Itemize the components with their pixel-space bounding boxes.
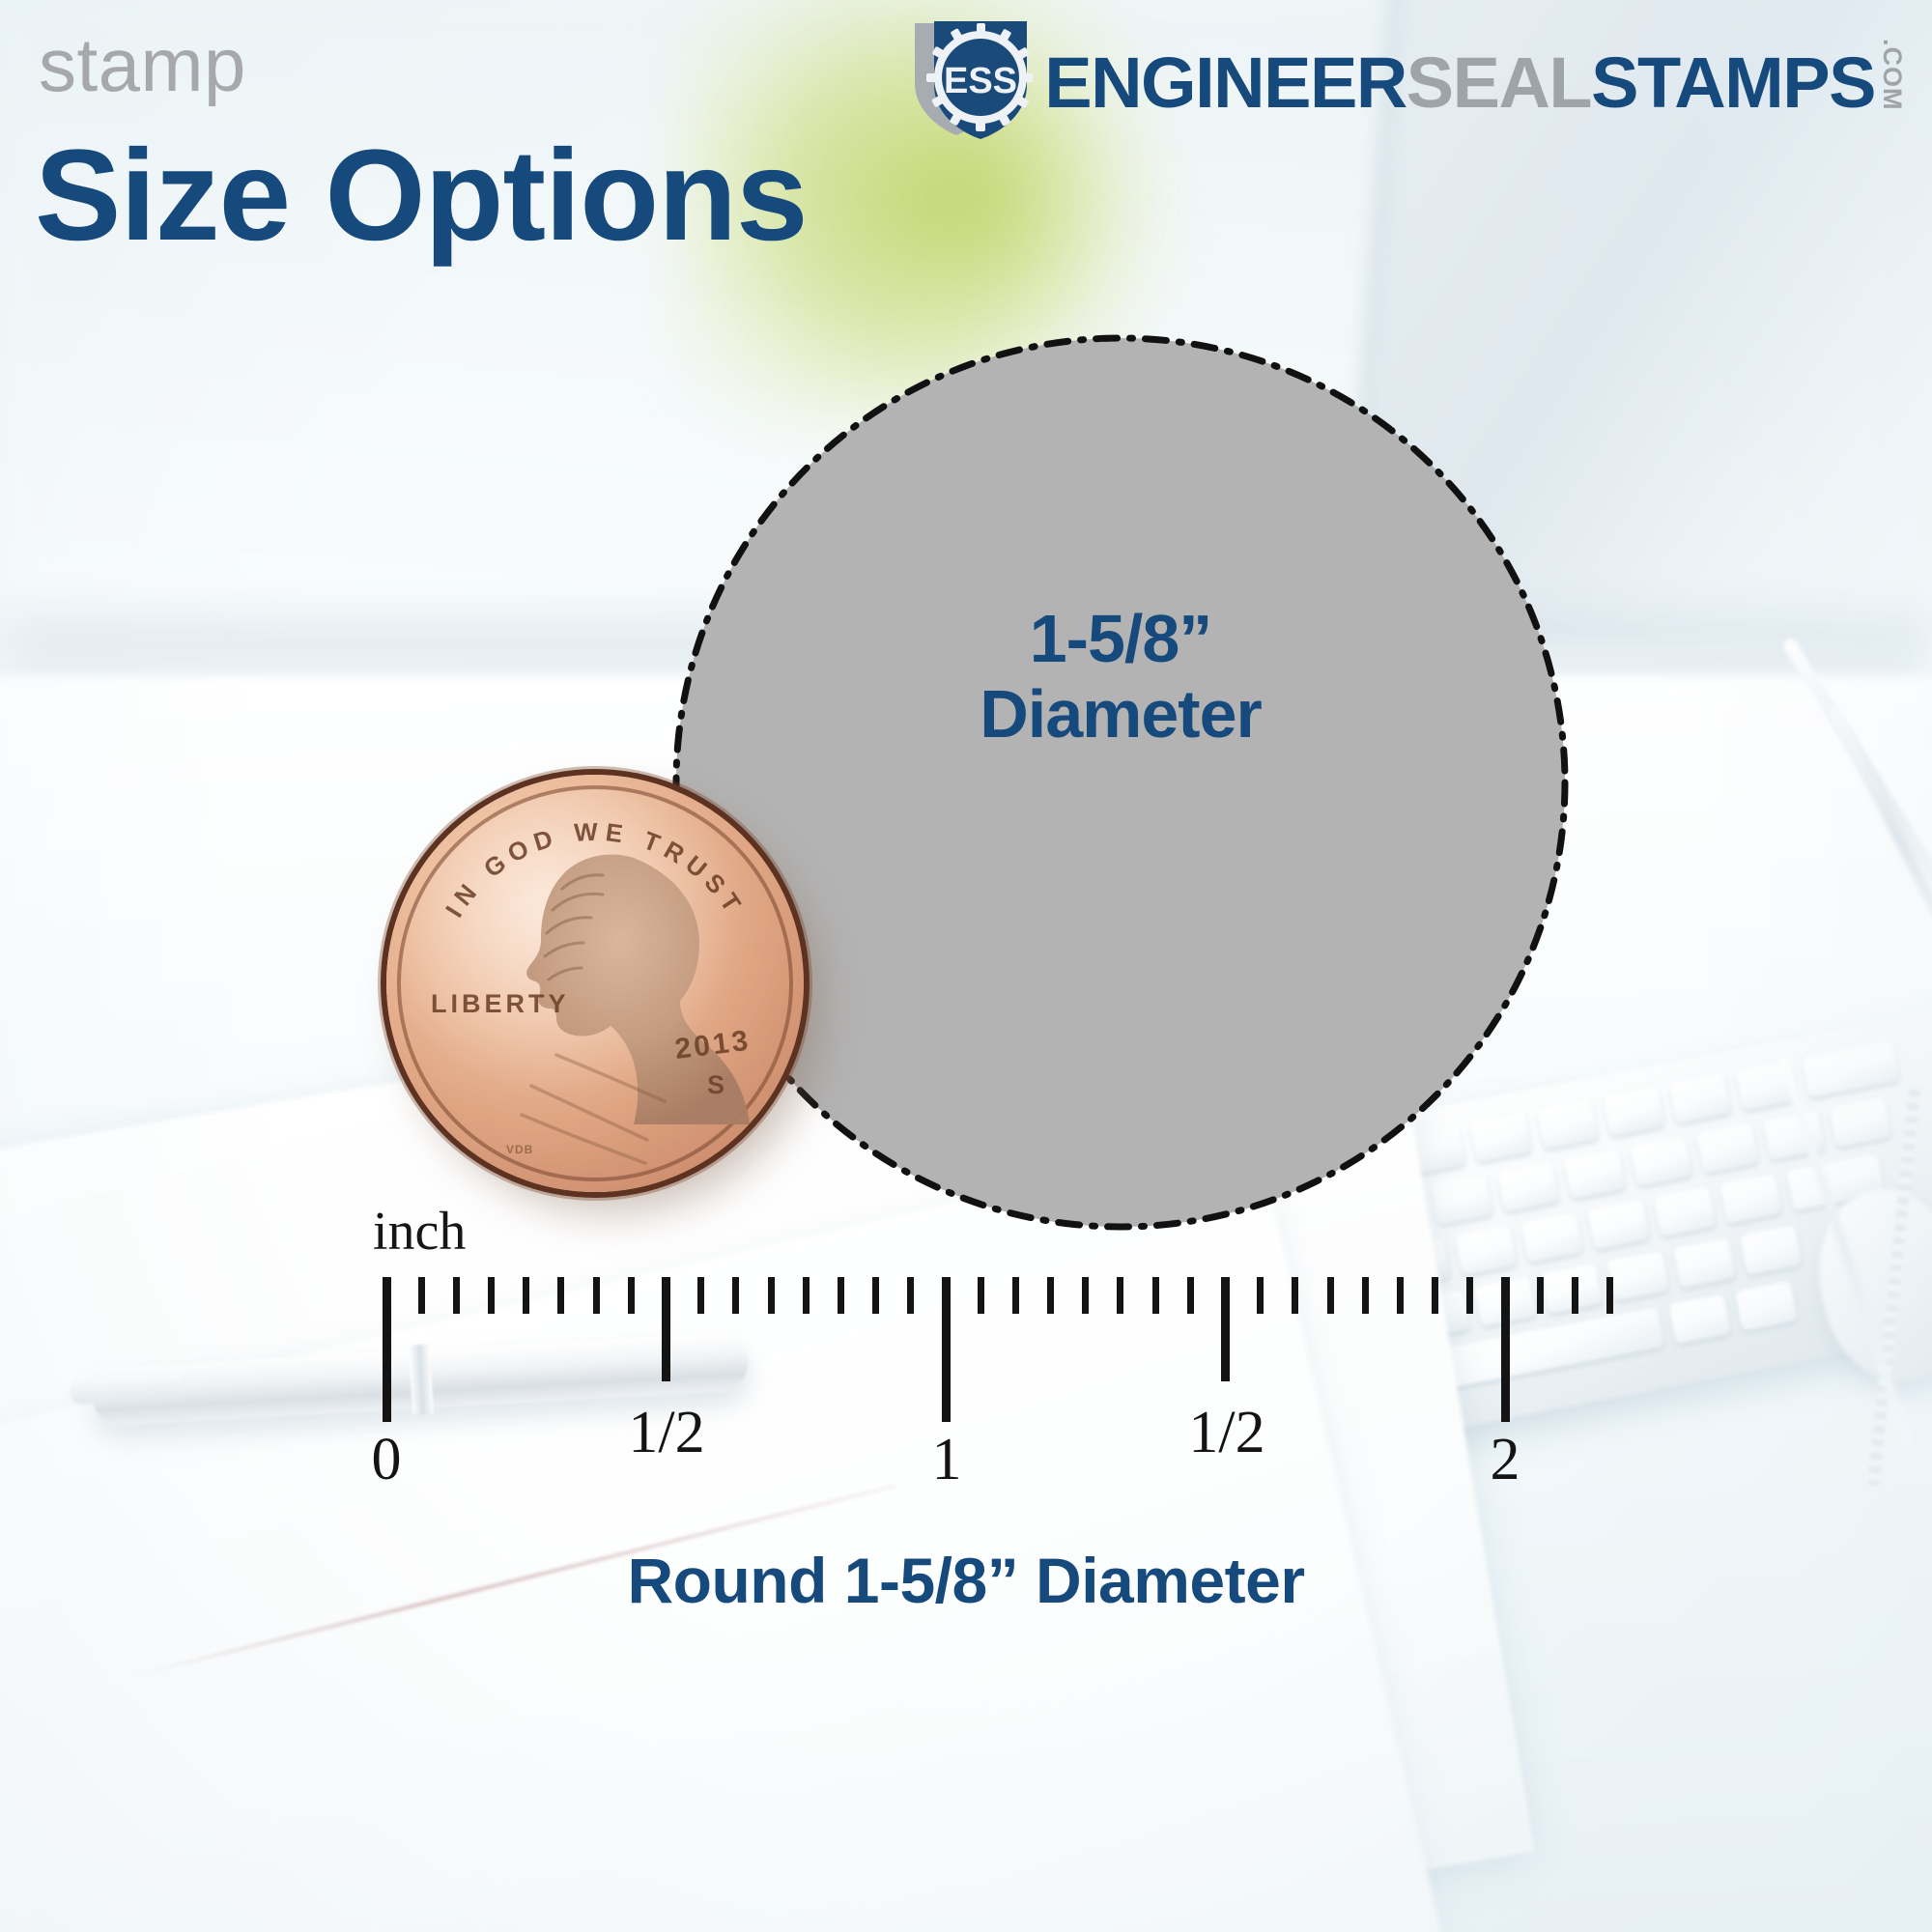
- coin-liberty-text: LIBERTY: [431, 989, 570, 1018]
- logo-wordmark: ENGINEERSEALSTAMPS.COM: [1044, 39, 1905, 117]
- shield-icon: ESS: [909, 15, 1033, 139]
- logo-badge: ESS: [909, 15, 1033, 139]
- size-dimension-label: 1-5/8” Diameter: [676, 601, 1565, 753]
- coin-mintmark-text: S: [707, 1070, 724, 1099]
- page-title: Size Options: [35, 131, 808, 261]
- size-preview-circle: 1-5/8” Diameter: [676, 338, 1565, 1227]
- logo-word-seal: SEAL: [1406, 50, 1591, 116]
- eyebrow-label: stamp: [39, 27, 246, 102]
- circle-dashed-border: [668, 330, 1573, 1235]
- logo-word-stamps: STAMPS: [1591, 50, 1875, 116]
- size-dimension-word: Diameter: [676, 676, 1565, 752]
- brand-logo[interactable]: ESS ENGINEERSEALSTAMPS.COM: [909, 15, 1905, 139]
- size-caption: Round 1-5/8” Diameter: [0, 1544, 1932, 1617]
- size-options-graphic: stamp Size Options: [0, 0, 1932, 1932]
- penny-engraving: IN GOD WE TRUST LIBERTY 2013 S VDB: [386, 775, 804, 1192]
- penny-reference-coin: IN GOD WE TRUST LIBERTY 2013 S VDB: [386, 775, 804, 1192]
- logo-word-dotcom: .COM: [1879, 39, 1905, 111]
- coin-designer-initials: VDB: [506, 1143, 533, 1156]
- logo-word-engineer: ENGINEER: [1044, 50, 1406, 116]
- size-dimension-value: 1-5/8”: [676, 601, 1565, 676]
- logo-badge-text: ESS: [944, 61, 1017, 101]
